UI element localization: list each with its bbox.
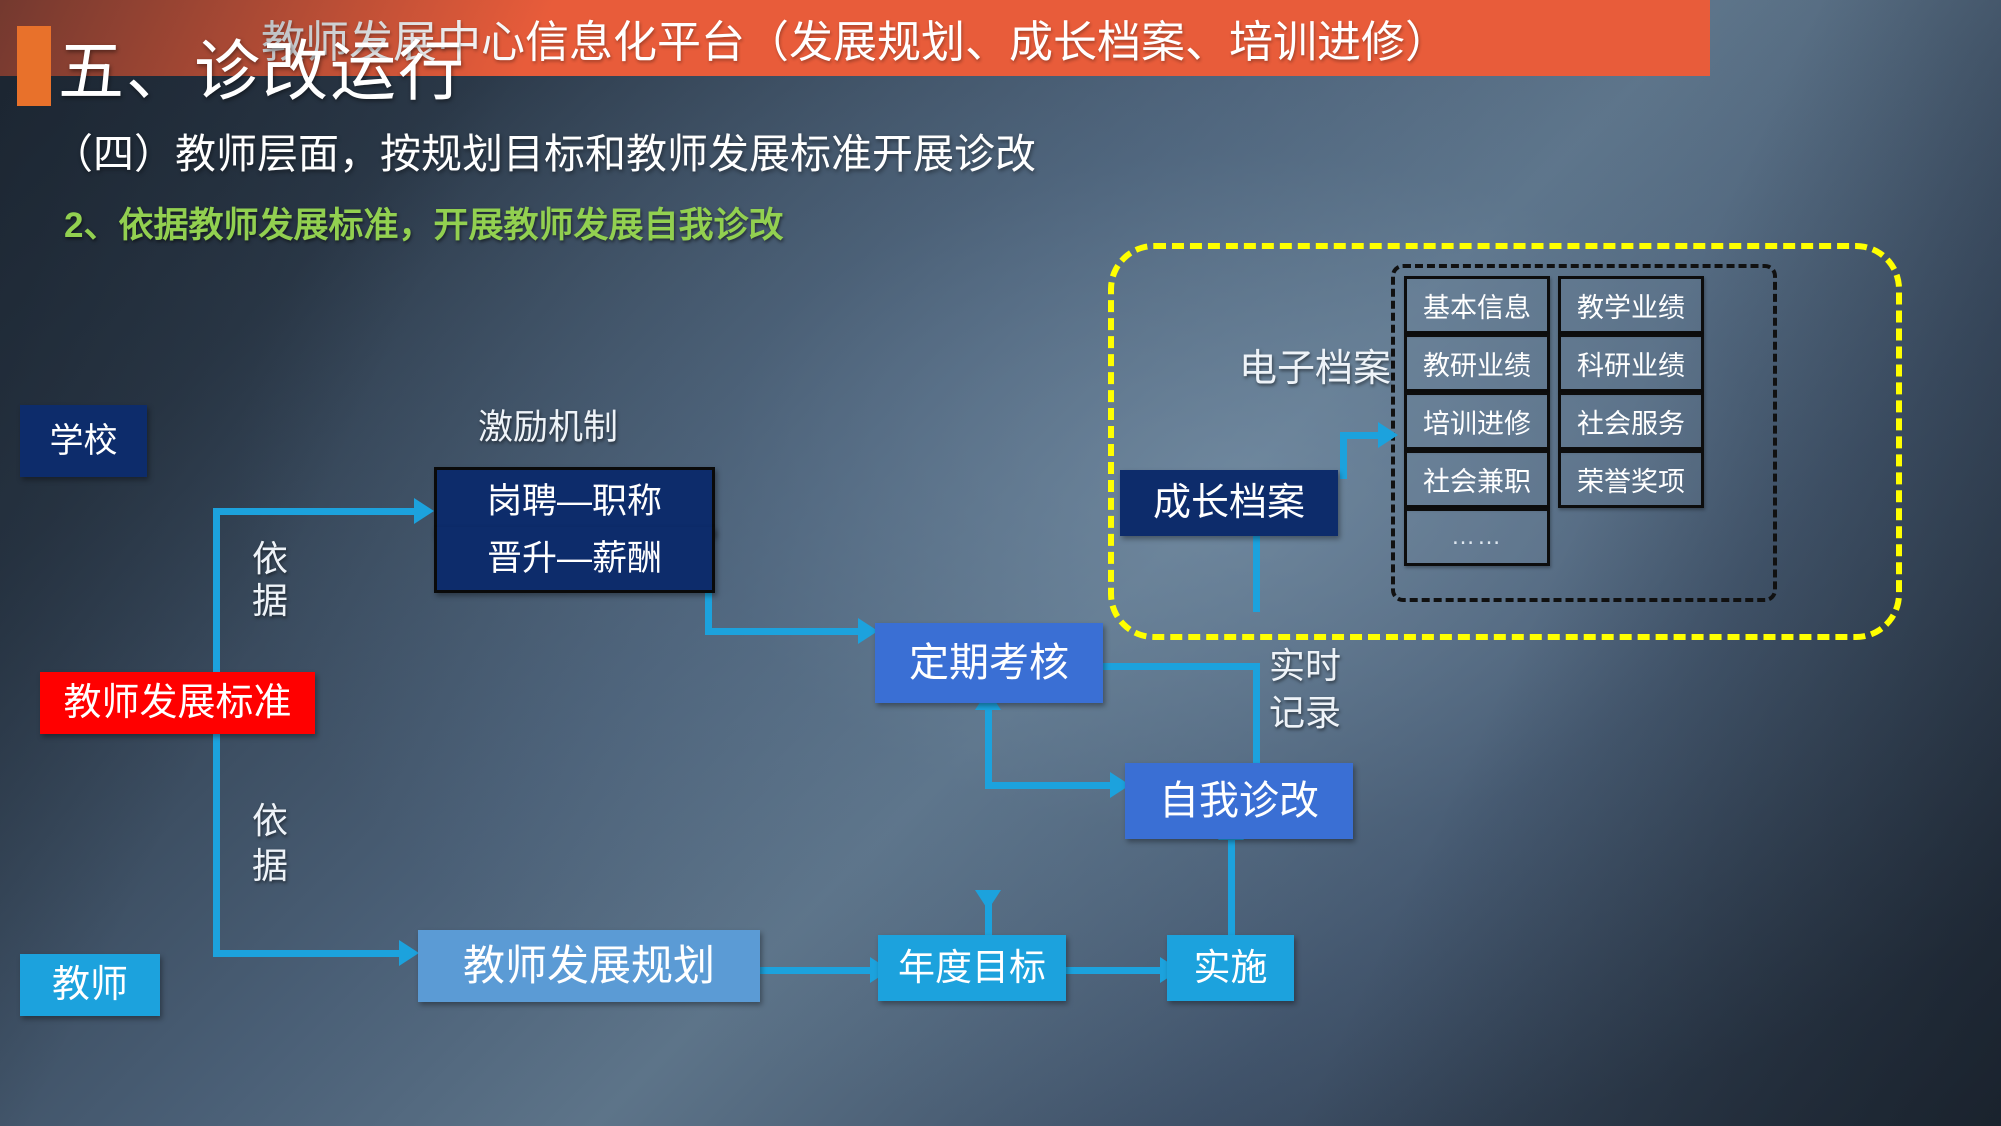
- archive-cell[interactable]: 教学业绩: [1558, 276, 1704, 334]
- arrow-down-to-annual-goal: [975, 890, 1001, 910]
- edge-label-basis-bottom: 依: [240, 800, 300, 841]
- edge-label-basis-top-2: 据: [240, 580, 300, 621]
- connector-incentive-to-review: [705, 628, 865, 635]
- node-school[interactable]: 学校: [20, 405, 147, 477]
- connector-goal-to-implement: [1065, 967, 1165, 974]
- node-implement[interactable]: 实施: [1167, 935, 1294, 1001]
- archive-table: 基本信息 教学业绩 教研业绩 科研业绩 培训进修 社会服务 社会兼职 荣誉奖项 …: [1404, 276, 1704, 566]
- connector-to-self-diagnosis: [985, 782, 1115, 789]
- connector-review-right: [1102, 663, 1260, 670]
- connector-goal-up: [985, 700, 992, 782]
- edge-label-realtime-1: 实时: [1240, 645, 1370, 686]
- node-growth-file[interactable]: 成长档案: [1120, 470, 1338, 536]
- arrow-to-dev-plan: [399, 940, 419, 966]
- node-incentive-box[interactable]: 岗聘—职称: [434, 467, 715, 536]
- page-subtitle: （四）教师层面，按规划目标和教师发展标准开展诊改: [52, 120, 1036, 180]
- connector-plan-to-goal: [760, 967, 875, 974]
- incentive-line1: 岗聘—职称: [487, 482, 662, 521]
- label-incentive-mechanism: 激励机制: [418, 408, 678, 448]
- archive-cell[interactable]: 培训进修: [1404, 392, 1550, 450]
- archive-cell[interactable]: 基本信息: [1404, 276, 1550, 334]
- page-title: 五、诊改运行: [58, 18, 466, 114]
- connector-school-to-incentive: [213, 508, 418, 515]
- node-self-diagnosis[interactable]: 自我诊改: [1125, 763, 1353, 839]
- connector-growthfile-up: [1340, 432, 1347, 479]
- node-incentive-box-line2[interactable]: 晋升—薪酬: [434, 527, 715, 593]
- node-periodic-review[interactable]: 定期考核: [875, 623, 1103, 703]
- incentive-line2: 晋升—薪酬: [487, 539, 662, 578]
- edge-label-realtime-2: 记录: [1240, 692, 1370, 733]
- archive-cell[interactable]: 荣誉奖项: [1558, 450, 1704, 508]
- electronic-archive-label: 电子档案: [1150, 348, 1480, 392]
- edge-label-basis-top: 依: [240, 538, 300, 579]
- connector-growthfile-to-table: [1340, 432, 1382, 439]
- archive-cell-empty: [1558, 508, 1704, 566]
- node-development-plan[interactable]: 教师发展规划: [418, 930, 760, 1002]
- arrow-to-incentive-box: [414, 498, 434, 524]
- archive-cell-ellipsis[interactable]: ……: [1404, 508, 1550, 566]
- archive-cell[interactable]: 科研业绩: [1558, 334, 1704, 392]
- edge-label-basis-bottom-2: 据: [240, 845, 300, 886]
- archive-cell[interactable]: 社会兼职: [1404, 450, 1550, 508]
- arrow-to-archive-table: [1378, 422, 1398, 448]
- title-accent-bar: [17, 26, 51, 106]
- node-annual-goal[interactable]: 年度目标: [878, 935, 1066, 1001]
- node-teacher[interactable]: 教师: [20, 954, 160, 1016]
- connector-implement-up: [1228, 836, 1235, 940]
- slide-canvas: 五、诊改运行 （四）教师层面，按规划目标和教师发展标准开展诊改 2、依据教师发展…: [0, 0, 2001, 1126]
- node-teacher-development-standard[interactable]: 教师发展标准: [40, 672, 315, 734]
- section-highlight-text: 2、依据教师发展标准，开展教师发展自我诊改: [64, 197, 783, 248]
- connector-teacher-to-plan: [213, 950, 403, 957]
- archive-cell[interactable]: 社会服务: [1558, 392, 1704, 450]
